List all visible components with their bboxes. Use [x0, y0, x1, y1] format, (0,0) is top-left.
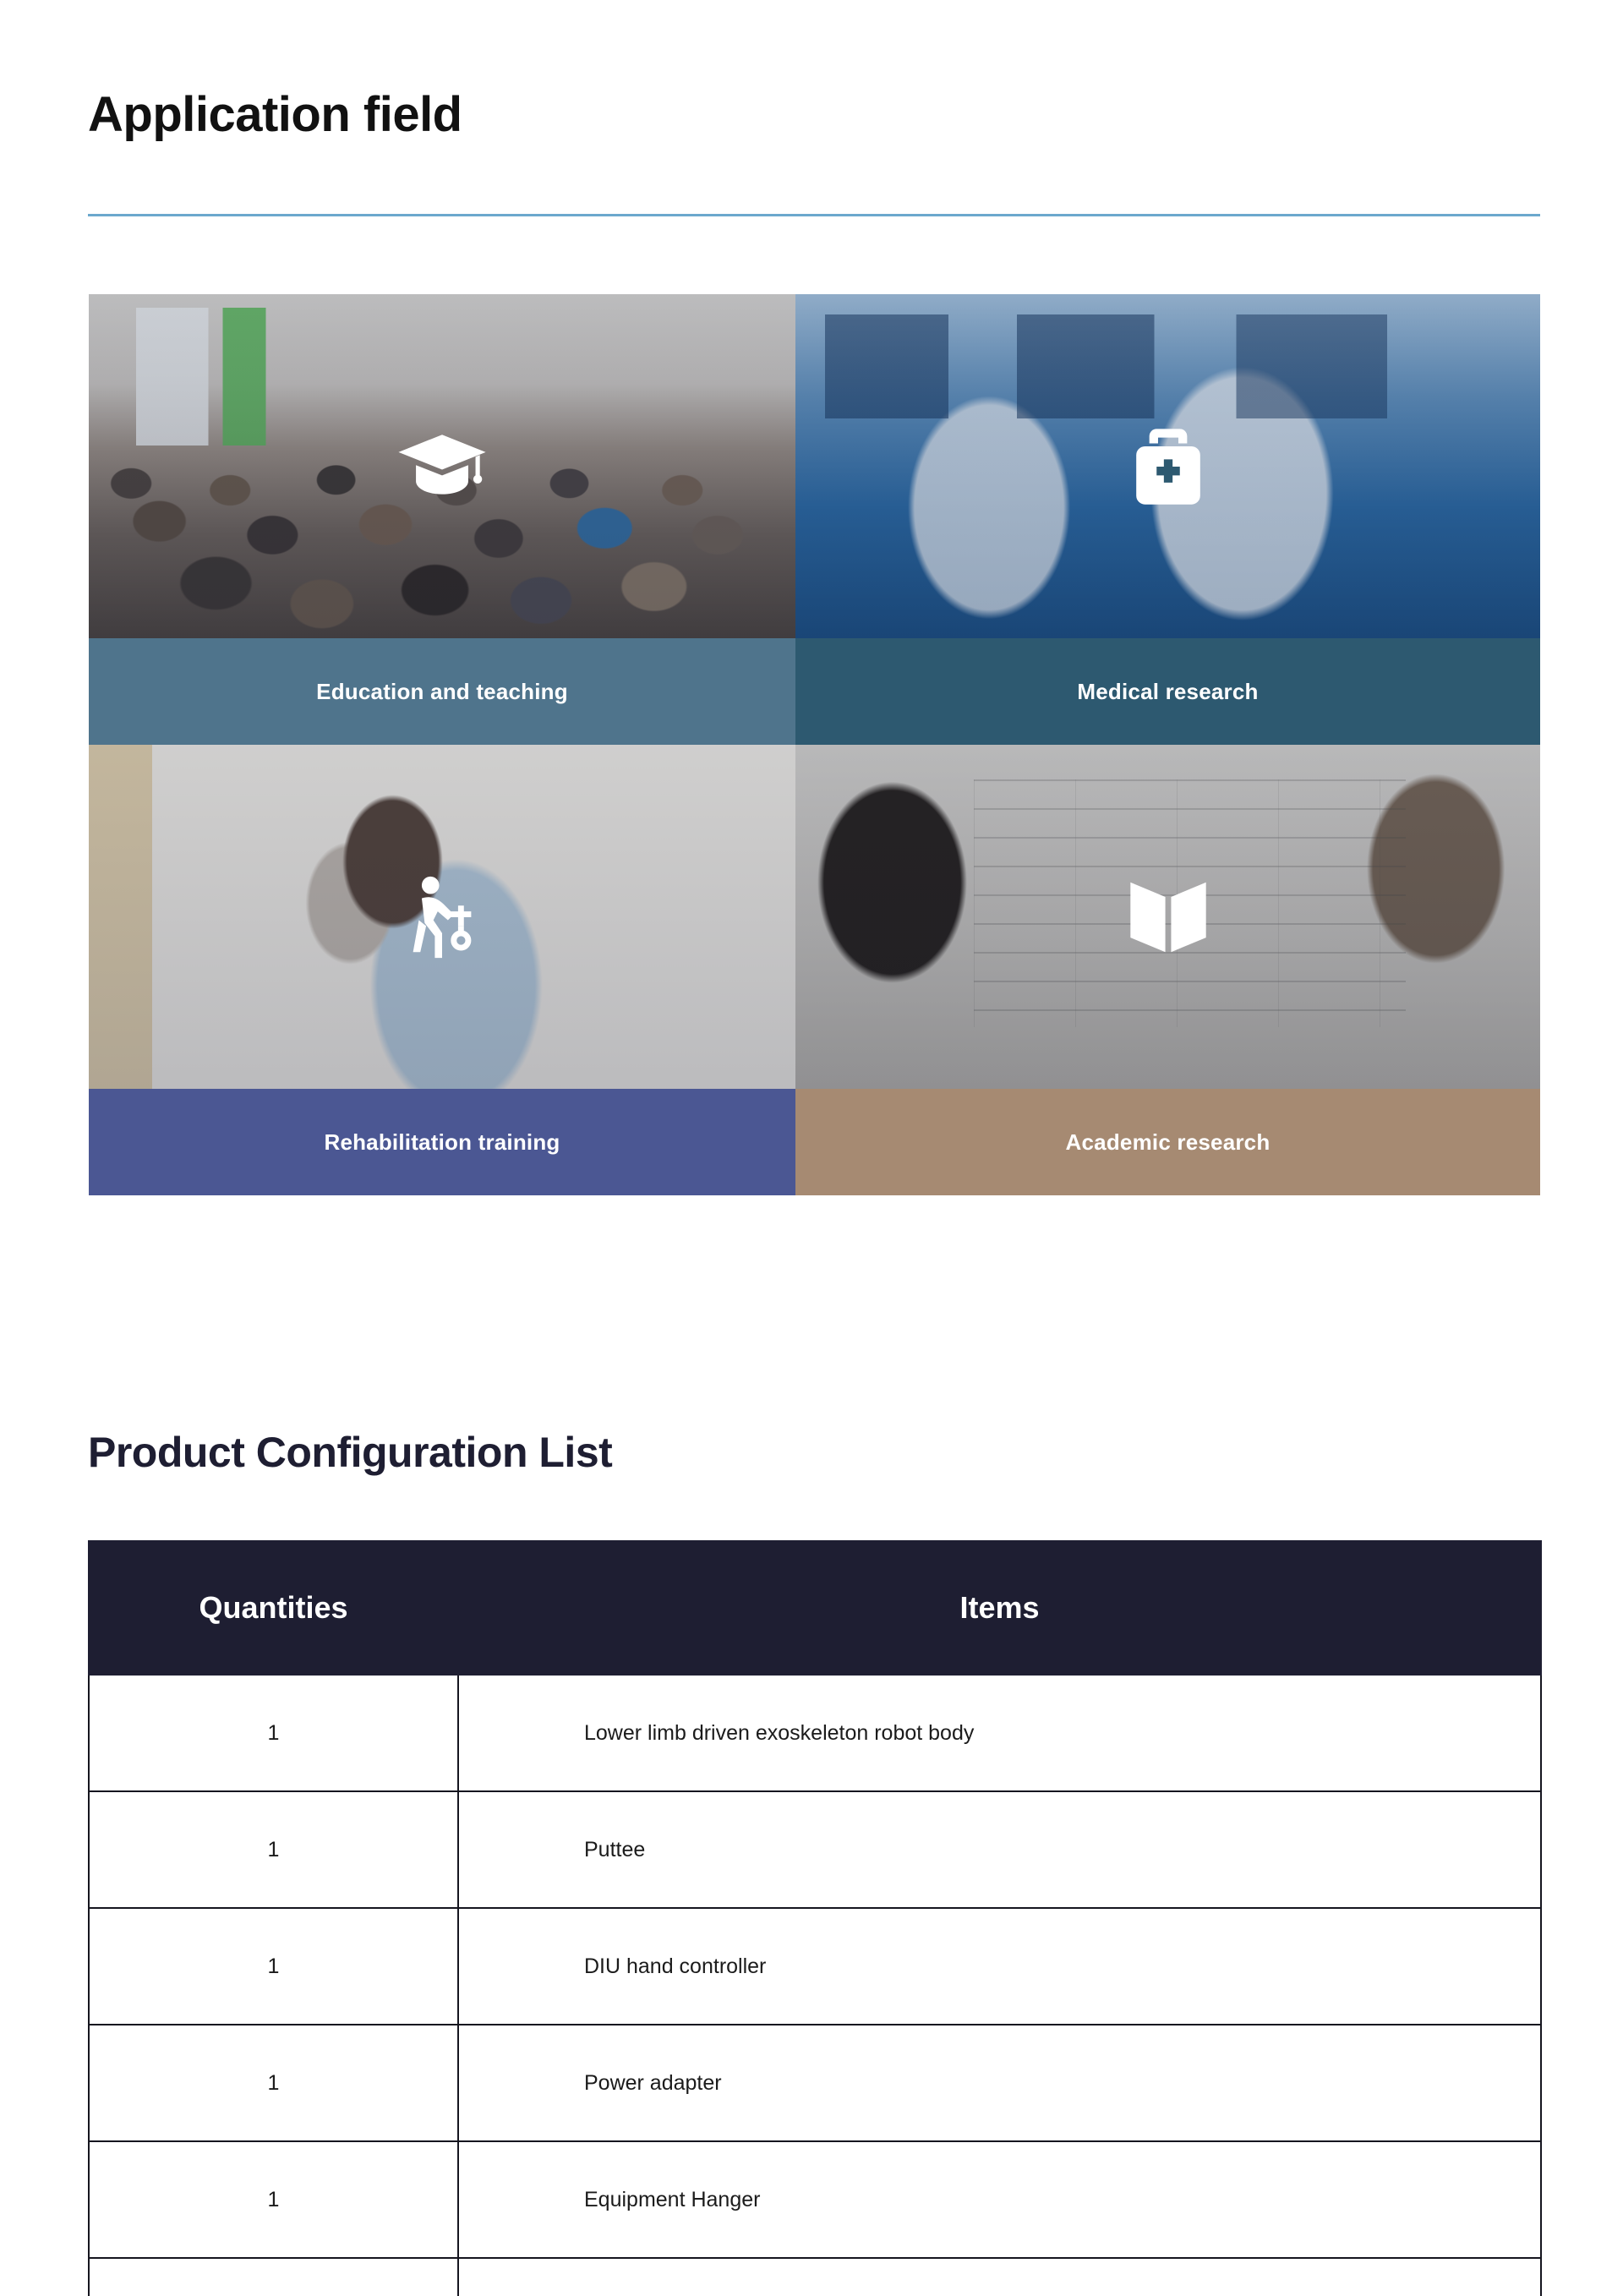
- table-row: 1 Lower limb driven exoskeleton robot bo…: [89, 1675, 1541, 1791]
- table-row: 1 Puttee: [89, 1791, 1541, 1908]
- tile-label-academic: Academic research: [795, 1089, 1540, 1195]
- tile-label-medical: Medical research: [795, 638, 1540, 745]
- product-configuration-table: Quantities Items 1 Lower limb driven exo…: [88, 1540, 1542, 2296]
- cell-item: Lower limb driven exoskeleton robot body: [458, 1675, 1541, 1791]
- medical-photo: [795, 294, 1540, 638]
- table-header-row: Quantities Items: [89, 1541, 1541, 1675]
- application-tile-academic[interactable]: Academic research: [795, 745, 1540, 1195]
- table-row: 1 Power adapter: [89, 2025, 1541, 2141]
- therapy-session-image: [89, 745, 795, 1089]
- cell-quantity: 1: [89, 2258, 458, 2296]
- title-divider-rule: [88, 214, 1540, 216]
- table-row: 1 Instruction manual, certificate of con…: [89, 2258, 1541, 2296]
- application-tile-education[interactable]: Education and teaching: [89, 294, 795, 745]
- application-tile-medical[interactable]: Medical research: [795, 294, 1540, 745]
- academic-photo: [795, 745, 1540, 1089]
- tile-label-rehabilitation: Rehabilitation training: [89, 1089, 795, 1195]
- column-header-items: Items: [458, 1541, 1541, 1675]
- page-title-product-configuration: Product Configuration List: [88, 1429, 612, 1476]
- page-title-application-field: Application field: [88, 88, 462, 142]
- cell-quantity: 1: [89, 1675, 458, 1791]
- document-page: Application field Education and teaching: [0, 0, 1623, 2296]
- table-row: 1 DIU hand controller: [89, 1908, 1541, 2025]
- cell-quantity: 1: [89, 1908, 458, 2025]
- cell-item: Power adapter: [458, 2025, 1541, 2141]
- column-header-quantities: Quantities: [89, 1541, 458, 1675]
- cell-quantity: 1: [89, 1791, 458, 1908]
- cell-item: Instruction manual, certificate of confo…: [458, 2258, 1541, 2296]
- cell-quantity: 1: [89, 2025, 458, 2141]
- lecture-hall-image: [89, 294, 795, 638]
- cell-item: Equipment Hanger: [458, 2141, 1541, 2258]
- education-photo: [89, 294, 795, 638]
- laboratory-image: [795, 294, 1540, 638]
- table-row: 1 Equipment Hanger: [89, 2141, 1541, 2258]
- cell-item: Puttee: [458, 1791, 1541, 1908]
- whiteboard-session-image: [795, 745, 1540, 1089]
- cell-item: DIU hand controller: [458, 1908, 1541, 2025]
- application-tile-rehabilitation[interactable]: Rehabilitation training: [89, 745, 795, 1195]
- tile-label-education: Education and teaching: [89, 638, 795, 745]
- application-field-grid: Education and teaching Medical research: [89, 294, 1540, 1195]
- rehabilitation-photo: [89, 745, 795, 1089]
- cell-quantity: 1: [89, 2141, 458, 2258]
